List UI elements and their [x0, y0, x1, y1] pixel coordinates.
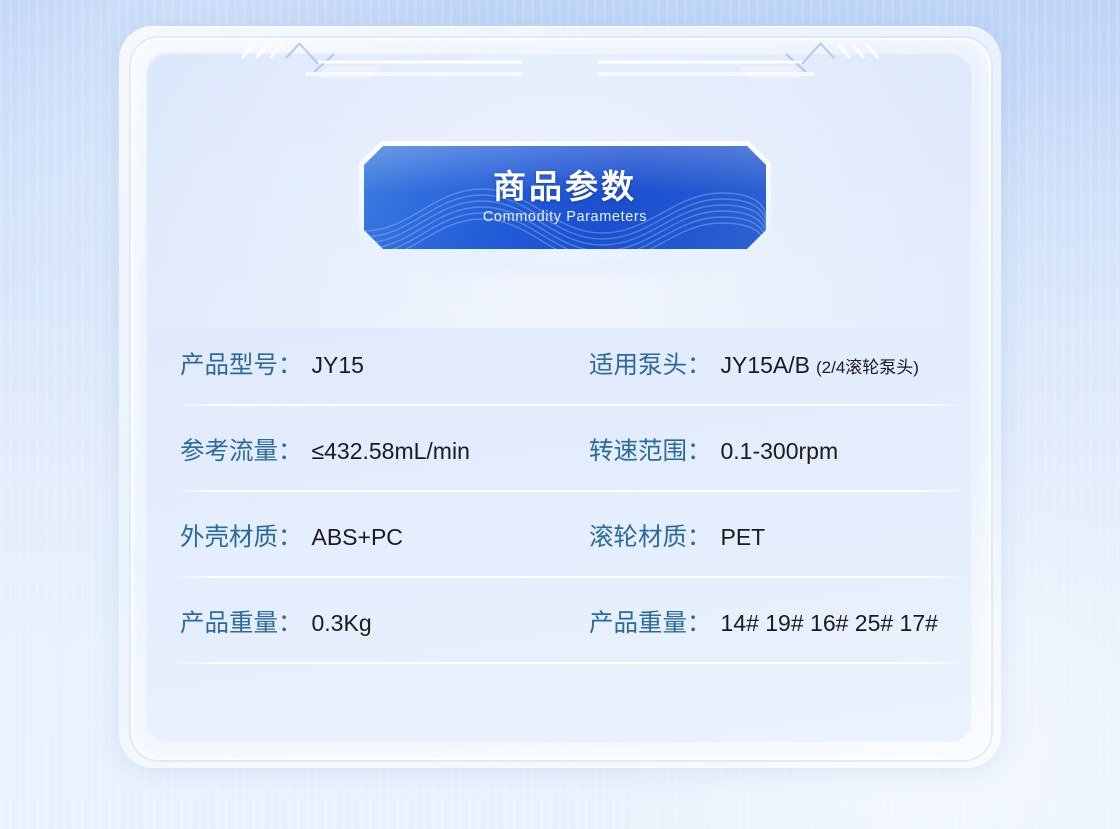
param-cell-pump-head: 适用泵头： JY15A/B (2/4滚轮泵头): [586, 346, 961, 381]
param-value: PET: [721, 524, 766, 551]
param-colon: ：: [687, 518, 712, 553]
banner-text-group: 商品参数 Commodity Parameters: [364, 146, 766, 249]
param-colon: ：: [278, 518, 303, 553]
param-cell-model: 产品型号： JY15: [178, 346, 586, 381]
table-row: 外壳材质： ABS+PC 滚轮材质： PET: [178, 492, 961, 578]
param-cell-weight: 产品重量： 0.3Kg: [178, 604, 586, 639]
table-row: 产品型号： JY15 适用泵头： JY15A/B (2/4滚轮泵头): [178, 320, 961, 406]
param-cell-speed-range: 转速范围： 0.1-300rpm: [586, 432, 961, 467]
param-label: 参考流量: [180, 432, 278, 467]
param-value: 0.3Kg: [312, 610, 372, 637]
param-value-note: (2/4滚轮泵头): [816, 353, 919, 378]
param-colon: ：: [278, 346, 303, 381]
param-colon: ：: [278, 432, 303, 467]
param-value: JY15: [312, 352, 364, 379]
param-label: 产品重量: [180, 604, 278, 639]
param-label: 滚轮材质: [589, 518, 687, 553]
param-value: 0.1-300rpm: [721, 438, 839, 465]
param-value: ≤432.58mL/min: [312, 438, 470, 465]
param-colon: ：: [687, 604, 712, 639]
table-row: 产品重量： 0.3Kg 产品重量： 14# 19# 16# 25# 17#: [178, 578, 961, 664]
param-cell-flow-rate: 参考流量： ≤432.58mL/min: [178, 432, 586, 467]
param-label: 产品重量: [589, 604, 687, 639]
param-label: 转速范围: [589, 432, 687, 467]
banner-body: 商品参数 Commodity Parameters: [364, 146, 766, 249]
param-cell-shell-material: 外壳材质： ABS+PC: [178, 518, 586, 553]
product-parameters-page: 商品参数 Commodity Parameters 产品型号： JY15 适用泵…: [0, 0, 1120, 829]
param-label: 外壳材质: [180, 518, 278, 553]
param-value: ABS+PC: [312, 524, 403, 551]
param-colon: ：: [278, 604, 303, 639]
parameter-grid: 产品型号： JY15 适用泵头： JY15A/B (2/4滚轮泵头) 参考流量：…: [178, 320, 961, 664]
param-colon: ：: [687, 346, 712, 381]
banner-title-english: Commodity Parameters: [483, 209, 647, 225]
banner-title-chinese: 商品参数: [493, 170, 637, 205]
param-label: 产品型号: [180, 346, 278, 381]
param-value: JY15A/B: [721, 352, 811, 379]
param-colon: ：: [687, 432, 712, 467]
param-value: 14# 19# 16# 25# 17#: [721, 610, 938, 637]
table-row: 参考流量： ≤432.58mL/min 转速范围： 0.1-300rpm: [178, 406, 961, 492]
param-label: 适用泵头: [589, 346, 687, 381]
param-cell-roller-material: 滚轮材质： PET: [586, 518, 961, 553]
param-cell-tube-sizes: 产品重量： 14# 19# 16# 25# 17#: [586, 604, 961, 639]
title-banner: 商品参数 Commodity Parameters: [359, 141, 771, 254]
